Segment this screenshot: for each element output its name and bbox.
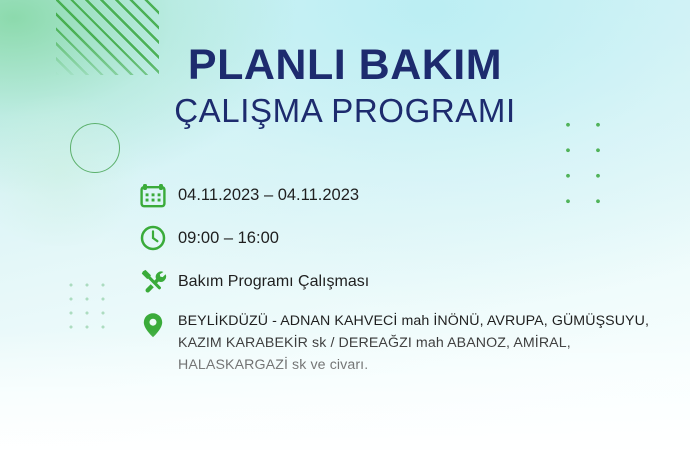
info-row-address: BEYLİKDÜZÜ - ADNAN KAHVECİ mah İNÖNÜ, AV… bbox=[138, 309, 658, 376]
calendar-icon bbox=[138, 180, 168, 210]
page-subtitle: ÇALIŞMA PROGRAMI bbox=[0, 94, 690, 129]
info-row-time: 09:00 – 16:00 bbox=[138, 223, 658, 253]
page-title: PLANLI BAKIM bbox=[0, 44, 690, 88]
circle-outline-decoration bbox=[70, 123, 120, 173]
location-pin-icon bbox=[138, 310, 168, 340]
time-range-value: 09:00 – 16:00 bbox=[178, 223, 279, 251]
tools-icon bbox=[138, 266, 168, 296]
poster-heading: PLANLI BAKIM ÇALIŞMA PROGRAMI bbox=[0, 44, 690, 129]
work-type-value: Bakım Programı Çalışması bbox=[178, 266, 369, 293]
date-range-value: 04.11.2023 – 04.11.2023 bbox=[178, 180, 359, 208]
dot-grid-left-decoration bbox=[63, 278, 115, 336]
maintenance-schedule-poster: PLANLI BAKIM ÇALIŞMA PROGRAMI 04.11.2023… bbox=[0, 0, 690, 450]
info-row-date: 04.11.2023 – 04.11.2023 bbox=[138, 180, 658, 210]
info-list: 04.11.2023 – 04.11.2023 09:00 – 16:00 bbox=[138, 180, 658, 376]
info-row-work-type: Bakım Programı Çalışması bbox=[138, 266, 658, 296]
clock-icon bbox=[138, 223, 168, 253]
address-value: BEYLİKDÜZÜ - ADNAN KAHVECİ mah İNÖNÜ, AV… bbox=[178, 309, 658, 376]
